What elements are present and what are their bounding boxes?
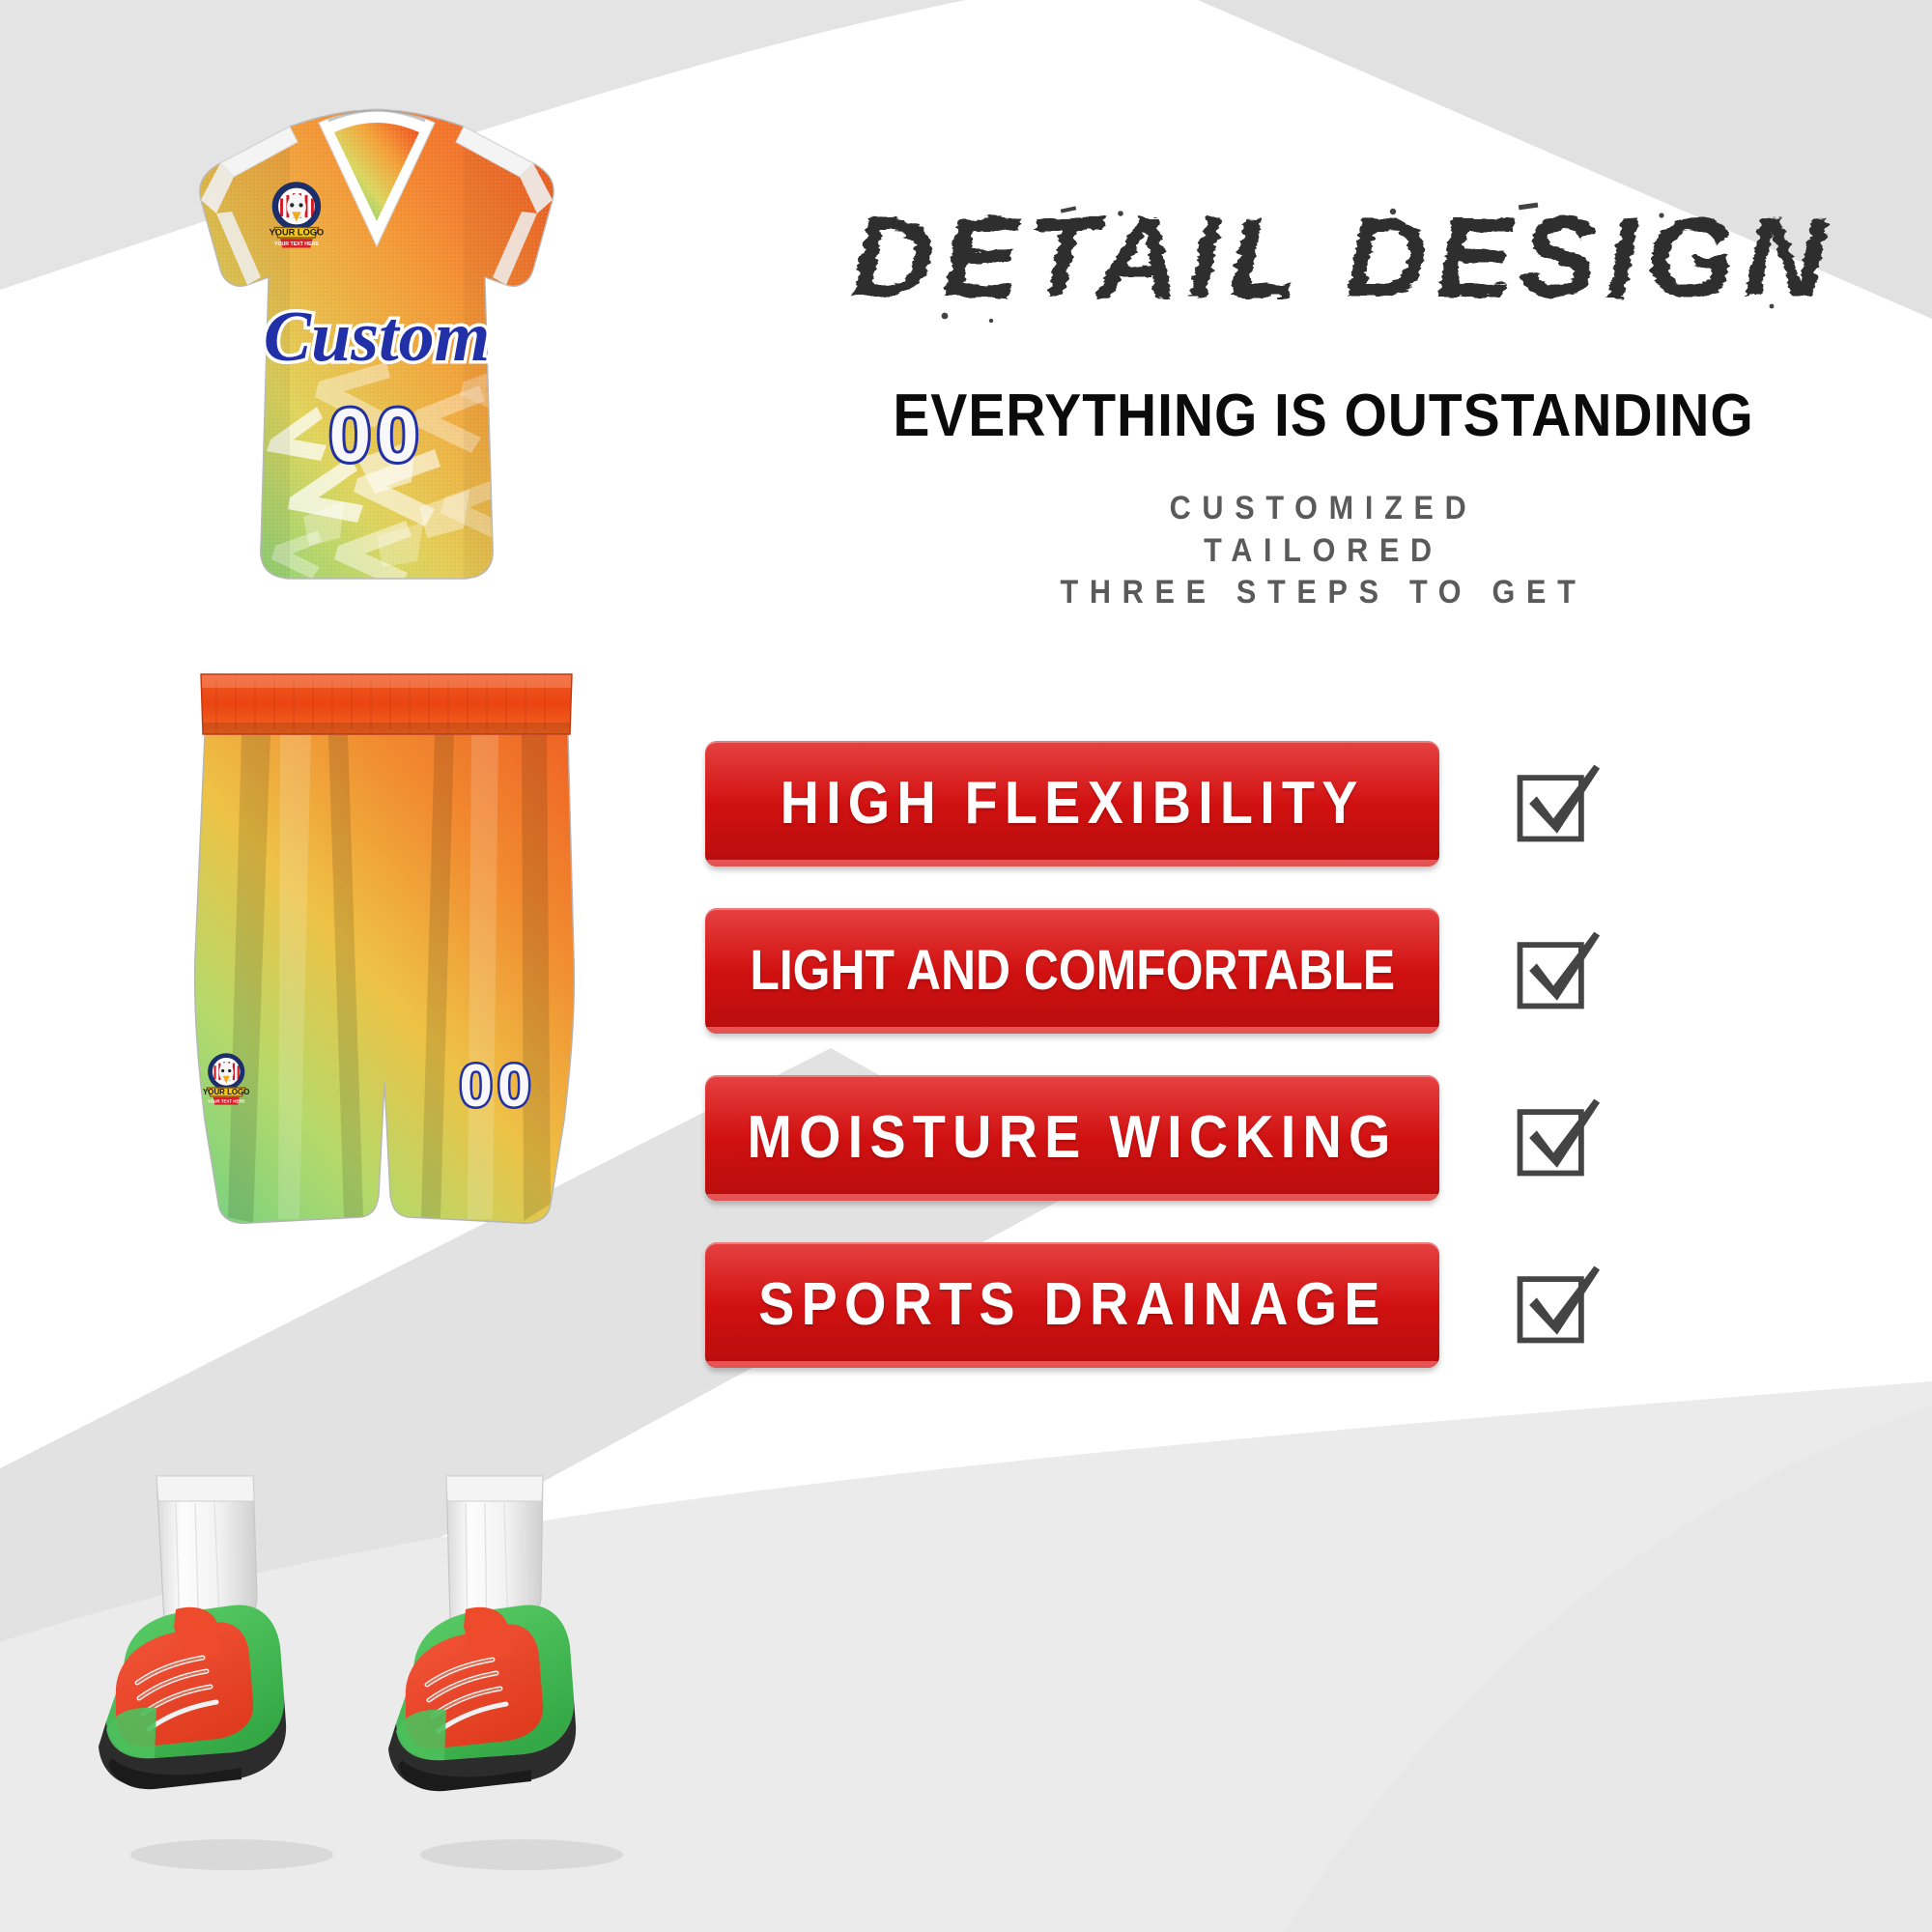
checkbox-checked-icon[interactable]: [1509, 757, 1602, 850]
shoes-and-socks-mockup: [87, 1468, 686, 1884]
checkbox-checked-icon[interactable]: [1509, 1092, 1602, 1184]
svg-text:YOUR LOGO: YOUR LOGO: [270, 228, 325, 238]
page-subtitle: EVERYTHING IS OUTSTANDING: [790, 386, 1857, 446]
feature-row-high-flexibility: HIGH FLEXIBILITY: [705, 720, 1845, 887]
jersey-team-name: Custom: [264, 298, 490, 377]
feature-banner-sports-drainage[interactable]: SPORTS DRAINAGE: [705, 1242, 1439, 1368]
page-title: DETAIL DESIGN: [802, 179, 1884, 351]
svg-text:YOUR TEXT HERE: YOUR TEXT HERE: [274, 241, 319, 247]
promo-image-canvas: YOUR LOGO YOUR TEXT HERE Custom 00: [0, 0, 1932, 1932]
feature-list: HIGH FLEXIBILITY LIGHT AND COMFORTABLE: [705, 720, 1845, 1388]
checkbox-checked-icon[interactable]: [1509, 924, 1602, 1017]
svg-text:YOUR LOGO: YOUR LOGO: [203, 1088, 249, 1096]
marketing-copy-panel: DETAIL DESIGN EVERYTHING IS OUTSTANDING …: [831, 0, 1932, 1932]
jersey-mockup: YOUR LOGO YOUR TEXT HERE Custom 00: [174, 92, 580, 691]
feature-label: HIGH FLEXIBILITY: [780, 769, 1364, 838]
feature-label: MOISTURE WICKING: [747, 1103, 1397, 1172]
shorts-number: 00: [460, 1053, 536, 1120]
checkbox-checked-icon[interactable]: [1509, 1259, 1602, 1351]
feature-row-moisture-wicking: MOISTURE WICKING: [705, 1054, 1845, 1221]
headline-brush-text: DETAIL DESIGN: [802, 179, 1884, 333]
shorts-waistband: [201, 674, 572, 734]
tagline-group: CUSTOMIZED TAILORED THREE STEPS TO GET: [744, 488, 1903, 614]
tagline-tailored: TAILORED: [802, 530, 1845, 573]
jersey-number: 00: [329, 392, 425, 477]
headline-text: DETAIL DESIGN: [851, 194, 1833, 322]
tagline-customized: CUSTOMIZED: [802, 488, 1845, 530]
feature-row-light-and-comfortable: LIGHT AND COMFORTABLE: [705, 887, 1845, 1054]
feature-label: LIGHT AND COMFORTABLE: [750, 938, 1395, 1003]
feature-banner-light-and-comfortable[interactable]: LIGHT AND COMFORTABLE: [705, 908, 1439, 1034]
left-shoe: [99, 1476, 286, 1789]
svg-text:YOUR TEXT HERE: YOUR TEXT HERE: [208, 1098, 245, 1103]
right-shoe: [388, 1476, 576, 1791]
feature-banner-high-flexibility[interactable]: HIGH FLEXIBILITY: [705, 741, 1439, 867]
feature-row-sports-drainage: SPORTS DRAINAGE: [705, 1221, 1845, 1388]
tagline-three-steps: THREE STEPS TO GET: [802, 572, 1845, 614]
shorts-mockup: YOUR LOGO YOUR TEXT HERE 00: [164, 667, 609, 1304]
feature-banner-moisture-wicking[interactable]: MOISTURE WICKING: [705, 1075, 1439, 1201]
feature-label: SPORTS DRAINAGE: [758, 1270, 1387, 1339]
